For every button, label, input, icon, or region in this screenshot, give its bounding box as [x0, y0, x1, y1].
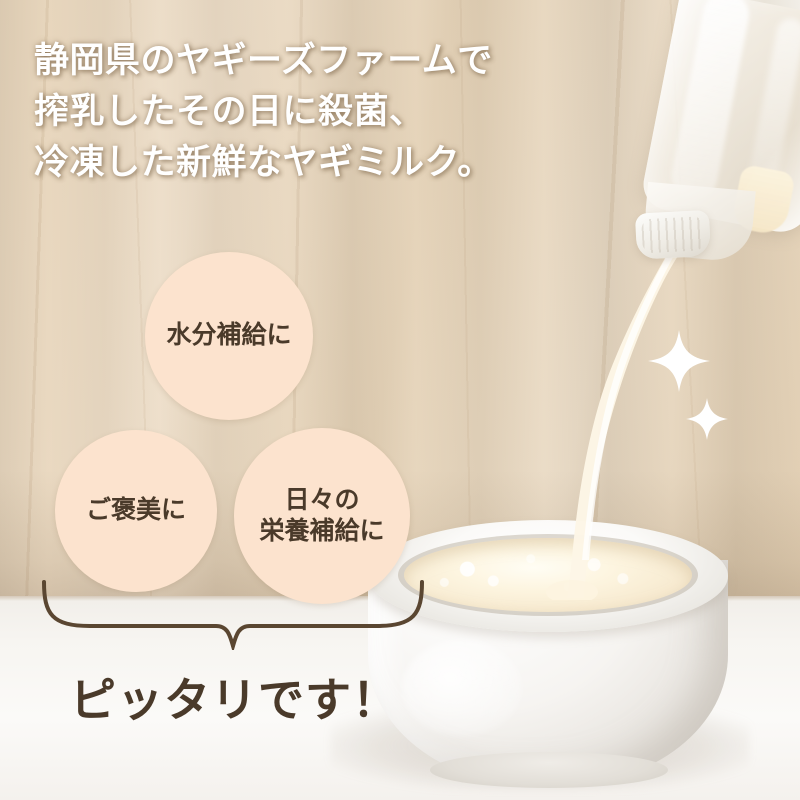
- headline-line-3: 冷凍した新鮮なヤギミルク。: [34, 138, 554, 189]
- headline: 静岡県のヤギーズファームで 搾乳したその日に殺菌、 冷凍した新鮮なヤギミルク。: [34, 36, 554, 188]
- benefit-bubble-hydration-label: 水分補給に: [166, 320, 291, 351]
- footer-tagline: ピッタリです！: [70, 664, 399, 730]
- headline-line-1: 静岡県のヤギーズファームで: [34, 36, 554, 87]
- promo-image: 静岡県のヤギーズファームで 搾乳したその日に殺菌、 冷凍した新鮮なヤギミルク。 …: [0, 0, 800, 800]
- sparkle-large-icon: [648, 330, 710, 397]
- sparkle-small-icon: [686, 398, 728, 445]
- bowl-highlight: [402, 640, 522, 736]
- benefit-bubble-hydration: 水分補給に: [145, 252, 313, 420]
- benefit-bubble-treat-label: ご褒美に: [86, 495, 186, 526]
- benefit-bubble-nutrition-label-2: 栄養補給に: [259, 516, 384, 547]
- curly-brace-connector: [38, 580, 428, 650]
- headline-line-2: 搾乳したその日に殺菌、: [34, 87, 554, 138]
- pet-bowl-foot: [430, 752, 668, 788]
- benefit-bubble-treat: ご褒美に: [55, 430, 217, 592]
- benefit-bubble-nutrition: 日々の 栄養補給に: [234, 428, 410, 604]
- benefit-bubble-nutrition-label-1: 日々の: [259, 485, 384, 516]
- pouch-cap-ridges: [641, 216, 705, 253]
